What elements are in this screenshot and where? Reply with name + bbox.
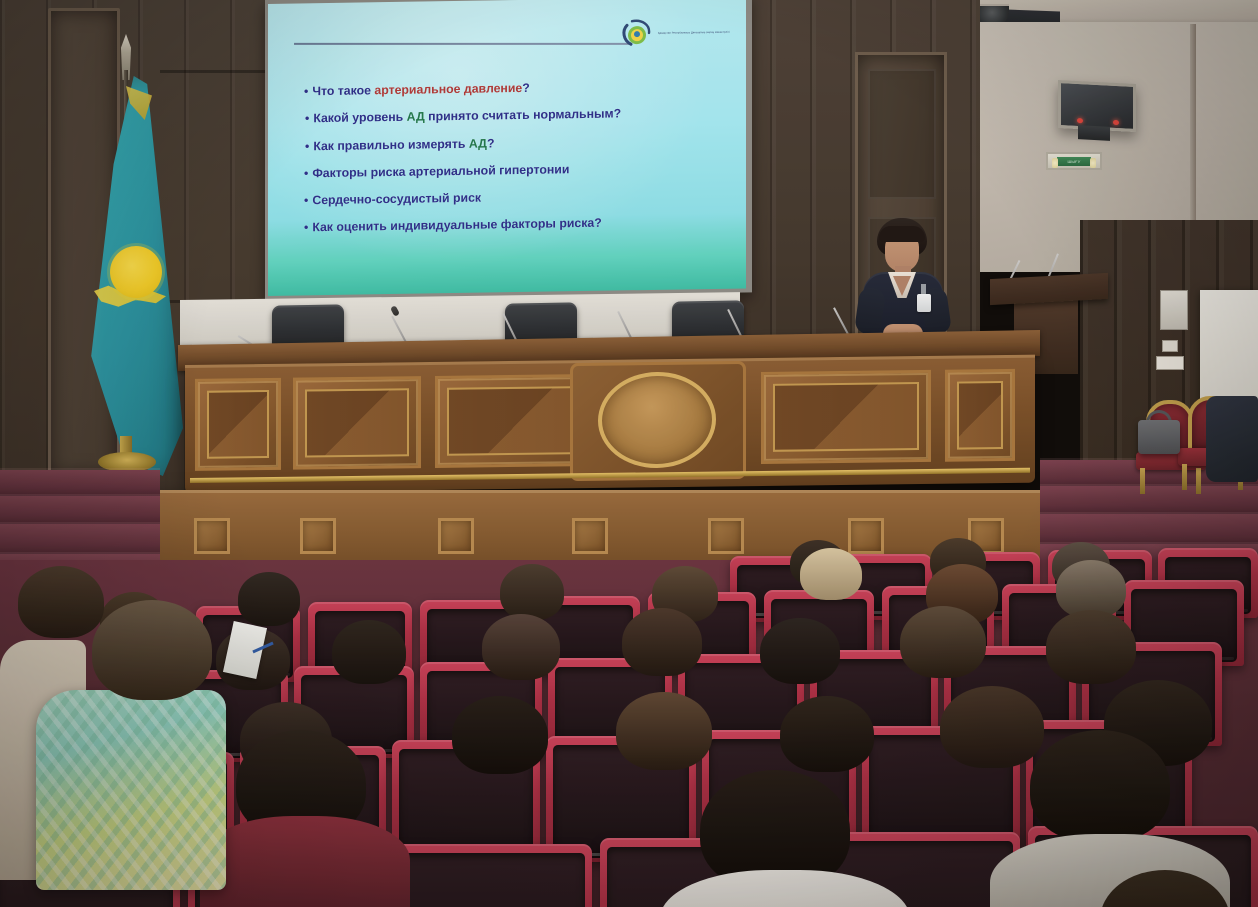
- wall-utility-box: [1160, 290, 1188, 330]
- slide-logo-caption: Қазақстан Республикасы Денсаулық сақтау …: [658, 31, 730, 36]
- table-panel-1: [195, 378, 281, 471]
- bullet-marker: •: [304, 194, 308, 208]
- bullet-marker: •: [305, 112, 309, 126]
- chair-leg: [1140, 468, 1145, 494]
- wall-mounted-display: [1058, 80, 1136, 132]
- monitor-led-left: [1077, 118, 1083, 123]
- monitor-led-right: [1113, 120, 1119, 125]
- attendee-patterned-scarf: [36, 690, 226, 890]
- bullet-marker: •: [305, 139, 309, 153]
- podium-surface: [990, 273, 1108, 305]
- presenter-fringe: [879, 226, 925, 242]
- slide-bullet-4: •Факторы риска артериальной гипертонии: [304, 161, 724, 180]
- attendee-head-foreground: [1030, 730, 1170, 842]
- step: [0, 496, 160, 524]
- table-panel-4: [761, 370, 931, 464]
- attendee-head: [800, 548, 862, 600]
- seat: [392, 844, 592, 907]
- wall-plate-small: [1162, 340, 1178, 352]
- exit-lamp-right: [1090, 158, 1096, 168]
- table-panel-2: [293, 376, 421, 470]
- handbag: [1138, 420, 1180, 454]
- attendee-head: [760, 618, 840, 684]
- name-badge: [917, 294, 931, 312]
- attendee-head: [500, 564, 564, 620]
- attendee-head: [900, 606, 986, 678]
- attendee-head: [238, 572, 300, 626]
- kazakhstan-emblem-icon: [620, 17, 654, 52]
- coat-on-chair: [1206, 396, 1258, 482]
- slide-bullet-5: •Сердечно-сосудистый риск: [304, 188, 724, 207]
- attendee-head: [780, 696, 874, 772]
- exit-sign: ШЫҒУ: [1046, 152, 1102, 170]
- wall-plate: [1156, 356, 1184, 370]
- attendee-head: [622, 608, 702, 676]
- monitor-mount: [1078, 125, 1110, 141]
- step: [0, 470, 160, 496]
- bullet-marker: •: [304, 221, 308, 235]
- flag-stand-base: [98, 452, 156, 472]
- attendee-head: [482, 614, 560, 680]
- flipchart-board: [1200, 290, 1258, 410]
- bullet-marker: •: [304, 84, 308, 98]
- flag-sun-icon: [110, 246, 162, 298]
- slide-bullet-list: •Что такое артериальное давление? •Какой…: [304, 79, 724, 249]
- attendee-head-left: [92, 600, 212, 700]
- attendee-head: [1046, 610, 1136, 684]
- exit-lamp-left: [1052, 158, 1058, 168]
- attendee-shoulders: [200, 816, 410, 907]
- slide-bullet-3: •Как правильно измерять АД?: [305, 133, 725, 152]
- attendee-head-far-left: [18, 566, 104, 638]
- door-panel-upper: [868, 69, 936, 199]
- kazakhstan-flag: [72, 28, 202, 498]
- exit-sign-label: ШЫҒУ: [1057, 157, 1091, 166]
- attendee-head: [940, 686, 1044, 768]
- table-panel-5: [945, 369, 1015, 462]
- slide-logo: Қазақстан Республикасы Денсаулық сақтау …: [620, 15, 730, 53]
- conference-hall-photo: ШЫҒУ Қазақстан Республикасы Денсаулық са…: [0, 0, 1258, 907]
- bullet-marker: •: [304, 166, 308, 180]
- attendee-head: [332, 620, 406, 684]
- projection-screen: Қазақстан Республикасы Денсаулық сақтау …: [265, 0, 752, 300]
- attendee-head: [616, 692, 712, 770]
- attendee-head: [452, 696, 548, 774]
- slide-divider-line: [294, 43, 629, 45]
- slide-bullet-6: •Как оценить индивидуальные факторы риск…: [304, 215, 724, 234]
- presentation-slide: Қазақстан Республикасы Денсаулық сақтау …: [268, 0, 746, 296]
- slide-bullet-2: •Какой уровень АД принято считать нормал…: [305, 106, 725, 125]
- chair-leg: [1182, 464, 1187, 490]
